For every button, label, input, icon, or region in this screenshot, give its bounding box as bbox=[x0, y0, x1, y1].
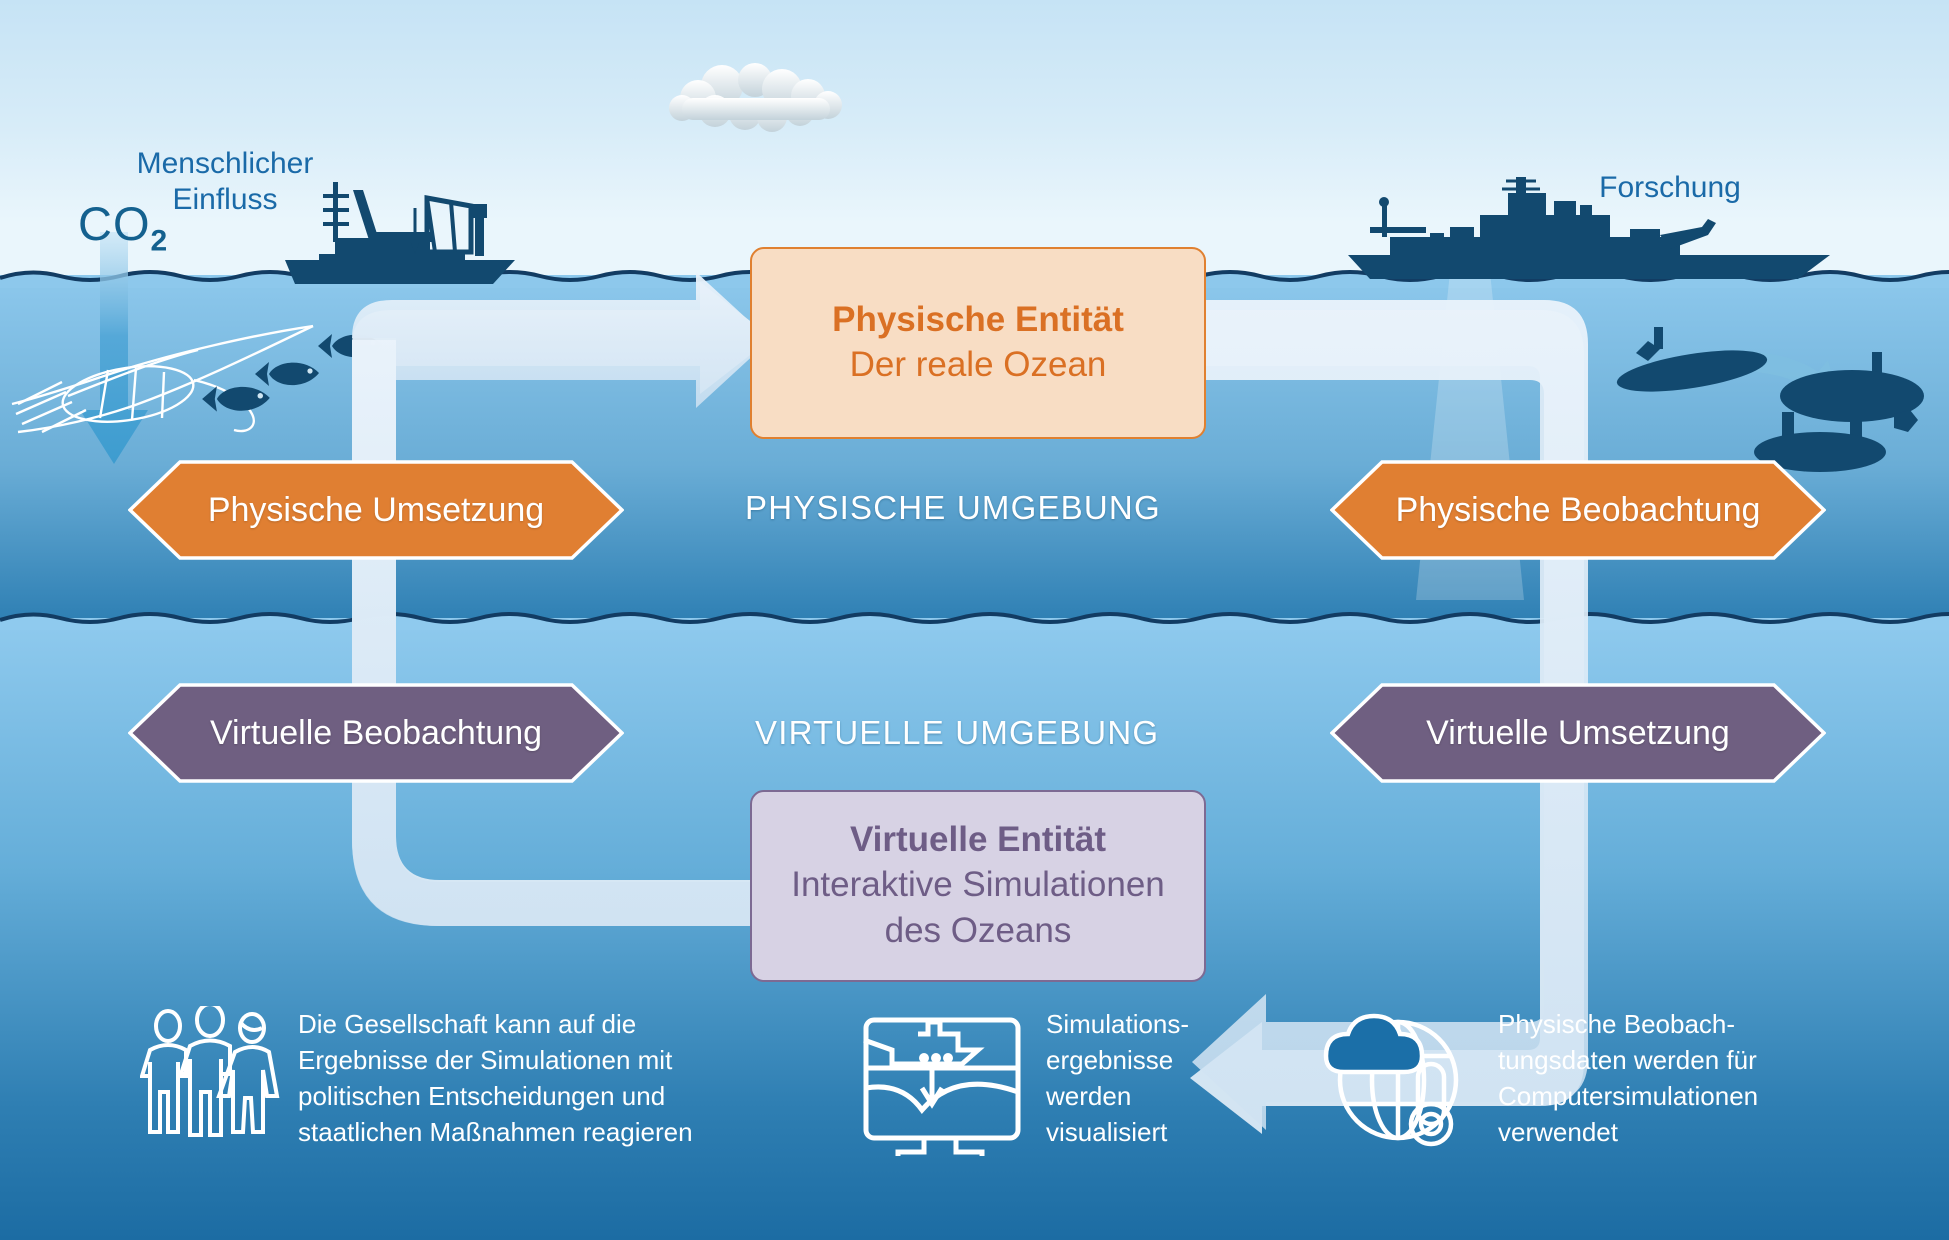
cloud-icon bbox=[660, 62, 865, 132]
physical-entity-title: Physische Entität bbox=[832, 298, 1124, 342]
mid-layer-wave bbox=[0, 604, 1949, 630]
auv-float-icon bbox=[1742, 348, 1949, 478]
globe-cloud-thermometer-icon bbox=[1310, 1006, 1480, 1156]
virtual-entity-subtitle-2: des Ozeans bbox=[885, 908, 1072, 954]
sign-physische-umsetzung[interactable]: Physische Umsetzung bbox=[128, 460, 624, 560]
sign-label: Physische Umsetzung bbox=[128, 460, 624, 560]
sign-physische-beobachtung[interactable]: Physische Beobachtung bbox=[1330, 460, 1826, 560]
legend-item-society: Die Gesellschaft kann auf die Ergebnisse… bbox=[140, 1006, 780, 1156]
co2-label: CO2 bbox=[78, 196, 168, 258]
physical-environment-label: PHYSISCHE UMGEBUNG bbox=[745, 489, 1161, 527]
people-group-icon bbox=[140, 1006, 280, 1156]
sign-label: Physische Beobachtung bbox=[1330, 460, 1826, 560]
virtual-entity-title: Virtuelle Entität bbox=[850, 818, 1106, 862]
monitor-ship-simulation-icon bbox=[858, 1006, 1028, 1156]
legend-item-observation-data: Physische Beobach- tungsdaten werden für… bbox=[1310, 1006, 1910, 1156]
legend-item-visualisation: Simulations- ergebnisse werden visualisi… bbox=[858, 1006, 1258, 1156]
sign-virtuelle-beobachtung[interactable]: Virtuelle Beobachtung bbox=[128, 683, 624, 783]
virtual-environment-label: VIRTUELLE UMGEBUNG bbox=[755, 714, 1159, 752]
legend-text: Simulations- ergebnisse werden visualisi… bbox=[1046, 1006, 1189, 1150]
sign-label: Virtuelle Beobachtung bbox=[128, 683, 624, 783]
sign-label: Virtuelle Umsetzung bbox=[1330, 683, 1826, 783]
sign-virtuelle-umsetzung[interactable]: Virtuelle Umsetzung bbox=[1330, 683, 1826, 783]
legend-text: Physische Beobach- tungsdaten werden für… bbox=[1498, 1006, 1758, 1150]
physical-entity-box[interactable]: Physische Entität Der reale Ozean bbox=[750, 247, 1206, 439]
virtual-entity-box[interactable]: Virtuelle Entität Interaktive Simulation… bbox=[750, 790, 1206, 982]
virtual-entity-subtitle-1: Interaktive Simulationen bbox=[791, 862, 1165, 908]
diagram-canvas: Menschlicher Einfluss CO2 Forschung PHYS… bbox=[0, 0, 1949, 1240]
fish-icon bbox=[316, 330, 386, 364]
physical-entity-subtitle: Der reale Ozean bbox=[850, 342, 1107, 388]
legend-text: Die Gesellschaft kann auf die Ergebnisse… bbox=[298, 1006, 693, 1150]
fish-icon bbox=[200, 382, 274, 418]
research-label: Forschung bbox=[1520, 170, 1820, 206]
